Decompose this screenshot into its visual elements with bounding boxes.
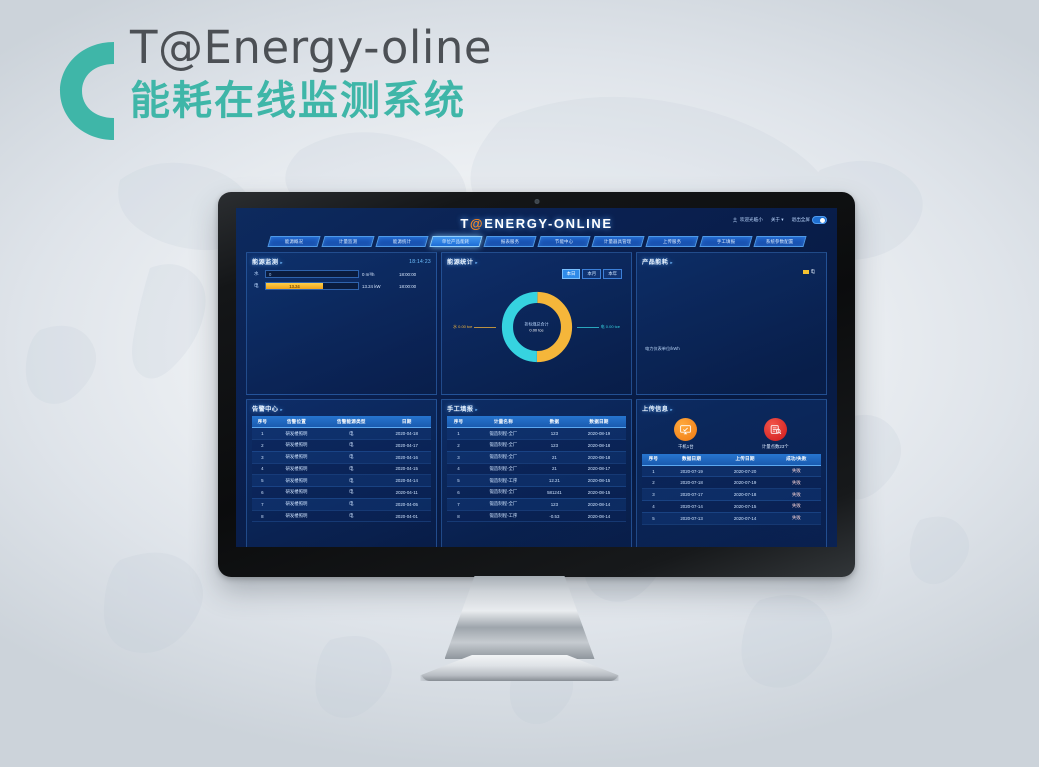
cell-0: 3: [252, 451, 273, 463]
chevron-right-icon[interactable]: ▸: [475, 260, 478, 265]
donut-center-label: 折标煤总合计 0.00 tce: [525, 322, 549, 333]
monitor-upload-icon: [674, 418, 697, 441]
table-row[interactable]: 1研发楼照明电2020-04-18: [252, 428, 431, 440]
cell-3: 2020-08-19: [572, 428, 626, 440]
table-row[interactable]: 6研发楼照明电2020-04-11: [252, 487, 431, 499]
energy-donut-chart: 折标煤总合计 0.00 tce 水 0.00 tce 电 0.00 tce: [447, 279, 626, 375]
alarm-center-header: 告警中心▸: [252, 404, 431, 413]
column-header-0: 序号: [252, 416, 273, 428]
cell-2: 123: [537, 439, 572, 451]
tab-today[interactable]: 本日: [562, 269, 581, 279]
cell-1: 研发楼照明: [273, 439, 320, 451]
cell-3: 2020-04-11: [382, 487, 431, 499]
energy-stat-title-text: 能源统计: [447, 259, 473, 266]
column-header-1: 告警位置: [273, 416, 320, 428]
column-header-2: 数据: [537, 416, 572, 428]
nav-item-8[interactable]: 手工填报: [699, 236, 752, 247]
webcam-icon: [534, 199, 539, 204]
dashboard-title-part2: ENERGY-ONLINE: [484, 216, 612, 231]
panel-energy-statistics: 能源统计▸ 本日 本月 本年: [441, 252, 632, 395]
cell-0: 5: [642, 512, 665, 524]
product-energy-header: 产品能耗▸: [642, 257, 821, 266]
donut-label-water: 水 0.00 tce: [453, 324, 496, 330]
alarm-center-title: 告警中心▸: [252, 404, 283, 413]
cell-2: 581241: [537, 487, 572, 499]
cell-1: 锻造制程-全厂: [470, 439, 537, 451]
cell-0: 2: [642, 477, 665, 489]
cell-1: 研发楼照明: [273, 510, 320, 522]
cell-3: 失败: [772, 477, 821, 489]
monitor: T@ENERGY-ONLINE 欢迎光临小 关于 ▾ 退出全屏: [218, 192, 855, 577]
table-row[interactable]: 7锻造制程-全厂1232020-08-14: [447, 498, 626, 510]
alarm-center-title-text: 告警中心: [252, 406, 278, 413]
table-row[interactable]: 22020-07-182020-07-19失败: [642, 477, 821, 489]
user-icon: [732, 217, 738, 223]
tab-year[interactable]: 本年: [603, 269, 622, 279]
cell-2: 电: [320, 451, 382, 463]
cell-2: 2020-07-19: [718, 477, 771, 489]
upload-info-table: 序号数据日期上传日期成功/失败 12020-07-192020-07-20失败2…: [642, 454, 821, 525]
panel-manual-entry: 手工填报▸ 序号计量名称数据数据日期 1锻造制程-全厂1232020-08-19…: [441, 399, 632, 547]
cell-0: 6: [447, 487, 470, 499]
table-body: 1锻造制程-全厂1232020-08-192锻造制程-全厂1232020-08-…: [447, 428, 626, 522]
manual-entry-title-text: 手工填报: [447, 406, 473, 413]
nav-label-9: 系统参数配置: [766, 239, 794, 245]
cell-3: 2020-08-15: [572, 487, 626, 499]
cell-2: 2020-07-14: [718, 512, 771, 524]
cell-1: 研发楼照明: [273, 487, 320, 499]
table-row[interactable]: 32020-07-172020-07-18失败: [642, 489, 821, 501]
cell-3: 2020-08-18: [572, 451, 626, 463]
donut-label-water-text: 水 0.00 tce: [453, 324, 472, 330]
column-header-3: 数据日期: [572, 416, 626, 428]
donut-center-line2: 0.00 tce: [525, 327, 549, 332]
column-header-1: 数据日期: [665, 454, 718, 466]
cell-3: 2020-08-14: [572, 498, 626, 510]
upload-info-title-text: 上传信息: [642, 406, 668, 413]
nav-label-4: 报表服务: [500, 239, 518, 245]
cell-3: 2020-08-18: [572, 439, 626, 451]
monitor-screen: T@ENERGY-ONLINE 欢迎光临小 关于 ▾ 退出全屏: [236, 208, 837, 547]
table-row[interactable]: 4锻造制程-全厂212020-08-17: [447, 463, 626, 475]
cell-2: 电: [320, 498, 382, 510]
product-energy-legend: 电: [642, 269, 815, 275]
document-search-icon: [764, 418, 787, 441]
nav-item-2[interactable]: 能源统计: [375, 236, 428, 247]
upload-stats: 干机1台: [642, 418, 821, 450]
upload-stat-devices[interactable]: 干机1台: [674, 418, 697, 450]
cell-2: 123: [537, 498, 572, 510]
energy-monitor-header: 能源监测▸ 18:14:23: [252, 257, 431, 266]
cell-0: 6: [252, 487, 273, 499]
cell-2: 电: [320, 487, 382, 499]
water-bar-value: 0: [269, 272, 271, 277]
water-timestamp: 18:00:00: [399, 272, 429, 277]
user-menu[interactable]: 欢迎光临小: [732, 217, 763, 223]
cell-3: 2020-08-14: [572, 510, 626, 522]
nav-label-3: 单位产品能耗: [442, 239, 470, 245]
water-bar-track: 0: [265, 270, 359, 278]
cell-0: 8: [252, 510, 273, 522]
product-energy-title-text: 产品能耗: [642, 259, 668, 266]
cell-1: 2020-07-13: [665, 512, 718, 524]
donut-label-electric-text: 电 0.00 tce: [601, 324, 620, 330]
nav-label-2: 能源统计: [392, 239, 410, 245]
fullscreen-control[interactable]: 退出全屏: [792, 216, 827, 224]
nav-label-1: 计量监测: [338, 239, 356, 245]
energy-stat-tabs: 本日 本月 本年: [447, 269, 622, 279]
nav-label-7: 上传服务: [662, 239, 680, 245]
nav-label-6: 计量器具管理: [604, 239, 632, 245]
chevron-right-icon[interactable]: ▸: [280, 407, 283, 412]
donut-label-electric: 电 0.00 tce: [577, 324, 620, 330]
table-body: 1研发楼照明电2020-04-182研发楼照明电2020-04-173研发楼照明…: [252, 428, 431, 522]
energy-monitor-title: 能源监测▸: [252, 257, 283, 266]
panel-upload-info: 上传信息▸: [636, 399, 827, 547]
column-header-2: 告警能源类型: [320, 416, 382, 428]
table-row[interactable]: 2研发楼照明电2020-04-17: [252, 439, 431, 451]
electric-label: 电: [254, 283, 262, 289]
table-row[interactable]: 5研发楼照明电2020-04-14: [252, 475, 431, 487]
column-header-2: 上传日期: [718, 454, 771, 466]
upload-stat-devices-caption: 干机1台: [674, 444, 697, 450]
cell-2: 2020-07-15: [718, 501, 771, 513]
cell-2: 电: [320, 475, 382, 487]
cell-2: 电: [320, 510, 382, 522]
panel-product-energy: 产品能耗▸ 电 电力仪表单位/kWh: [636, 252, 827, 395]
energy-monitor-title-text: 能源监测: [252, 259, 278, 266]
cell-0: 7: [252, 498, 273, 510]
table-header-row: 序号数据日期上传日期成功/失败: [642, 454, 821, 466]
cell-3: 2020-04-15: [382, 463, 431, 475]
brand-header: T@Energy-oline 能耗在线监测系统: [52, 22, 492, 150]
at-symbol-icon: @: [470, 216, 484, 231]
cell-0: 8: [447, 510, 470, 522]
electric-reading: 13.24 kW: [362, 284, 396, 289]
cell-1: 锻造制程-全厂: [470, 428, 537, 440]
cell-1: 锻造制程-全厂: [470, 498, 537, 510]
monitor-bezel: T@ENERGY-ONLINE 欢迎光临小 关于 ▾ 退出全屏: [218, 192, 855, 577]
cell-2: 21: [537, 463, 572, 475]
cell-2: -0.53: [537, 510, 572, 522]
topbar-actions: 欢迎光临小 关于 ▾ 退出全屏: [732, 216, 827, 224]
cell-1: 锻造制程-全厂: [470, 463, 537, 475]
panel-alarm-center: 告警中心▸ 序号告警位置告警能源类型日期 1研发楼照明电2020-04-182研…: [246, 399, 437, 547]
nav-item-6[interactable]: 计量器具管理: [591, 236, 644, 247]
electric-bar-track: 13.24: [265, 282, 359, 290]
cell-1: 2020-07-17: [665, 489, 718, 501]
cell-3: 2020-04-05: [382, 498, 431, 510]
chevron-right-icon[interactable]: ▸: [670, 407, 673, 412]
cell-0: 5: [447, 475, 470, 487]
nav-item-3[interactable]: 单位产品能耗: [429, 236, 482, 247]
cell-3: 失败: [772, 489, 821, 501]
cell-1: 锻造制程-工序: [470, 475, 537, 487]
cell-1: 研发楼照明: [273, 451, 320, 463]
table-body: 12020-07-192020-07-20失败22020-07-182020-0…: [642, 465, 821, 524]
cell-3: 2020-08-15: [572, 475, 626, 487]
cell-0: 4: [447, 463, 470, 475]
dashboard-grid: 能源监测▸ 18:14:23 水 0 0 m³/h 18:00:00: [242, 247, 831, 547]
cell-3: 失败: [772, 465, 821, 477]
table-row[interactable]: 42020-07-142020-07-15失败: [642, 501, 821, 513]
nav-item-1[interactable]: 计量监测: [321, 236, 374, 247]
cell-2: 12.21: [537, 475, 572, 487]
cell-1: 2020-07-18: [665, 477, 718, 489]
cell-0: 2: [447, 439, 470, 451]
column-header-0: 序号: [642, 454, 665, 466]
fullscreen-label: 退出全屏: [792, 217, 810, 223]
nav-item-4[interactable]: 报表服务: [483, 236, 536, 247]
panel-energy-monitor: 能源监测▸ 18:14:23 水 0 0 m³/h 18:00:00: [246, 252, 437, 395]
table-row[interactable]: 3锻造制程-全厂212020-08-18: [447, 451, 626, 463]
upload-stat-points-caption: 计量点数23个: [762, 444, 789, 450]
cell-3: 2020-08-17: [572, 463, 626, 475]
nav-label-8: 手工填报: [716, 239, 734, 245]
column-header-1: 计量名称: [470, 416, 537, 428]
column-header-3: 成功/失败: [772, 454, 821, 466]
cell-0: 3: [642, 489, 665, 501]
nav-item-7[interactable]: 上传服务: [645, 236, 698, 247]
chevron-right-icon[interactable]: ▸: [280, 260, 283, 265]
monitor-stand-neck: [445, 576, 595, 659]
energy-bar-row-water: 水 0 0 m³/h 18:00:00: [254, 270, 429, 278]
alarm-center-table: 序号告警位置告警能源类型日期 1研发楼照明电2020-04-182研发楼照明电2…: [252, 416, 431, 522]
tab-month[interactable]: 本月: [582, 269, 601, 279]
cell-0: 1: [252, 428, 273, 440]
energy-monitor-time: 18:14:23: [409, 259, 431, 265]
legend-swatch-electric: [803, 270, 809, 274]
table-header-row: 序号计量名称数据数据日期: [447, 416, 626, 428]
electric-bar-fill: 13.24: [266, 283, 323, 289]
cell-0: 4: [642, 501, 665, 513]
main-nav: 能源概况 计量监测 能源统计 单位产品能耗 报表服务 节能中心 计量器具管理 上…: [242, 236, 831, 247]
water-label: 水: [254, 271, 262, 277]
cell-3: 2020-04-01: [382, 510, 431, 522]
table-row[interactable]: 3研发楼照明电2020-04-16: [252, 451, 431, 463]
cell-1: 研发楼照明: [273, 428, 320, 440]
leader-line-left: [474, 327, 496, 328]
table-row[interactable]: 6锻造制程-全厂5812412020-08-15: [447, 487, 626, 499]
cell-1: 锻造制程-全厂: [470, 487, 537, 499]
help-label: 关于 ▾: [771, 217, 784, 223]
water-reading: 0 m³/h: [362, 272, 396, 277]
table-row[interactable]: 4研发楼照明电2020-04-15: [252, 463, 431, 475]
energy-stat-header: 能源统计▸: [447, 257, 626, 266]
cell-2: 电: [320, 463, 382, 475]
cell-3: 2020-04-16: [382, 451, 431, 463]
nav-item-5[interactable]: 节能中心: [537, 236, 590, 247]
cell-0: 2: [252, 439, 273, 451]
table-row[interactable]: 8研发楼照明电2020-04-01: [252, 510, 431, 522]
cell-3: 2020-04-18: [382, 428, 431, 440]
cell-0: 5: [252, 475, 273, 487]
table-header-row: 序号告警位置告警能源类型日期: [252, 416, 431, 428]
upload-info-header: 上传信息▸: [642, 404, 821, 413]
electric-timestamp: 18:00:00: [399, 284, 429, 289]
nav-item-0[interactable]: 能源概况: [267, 236, 320, 247]
cell-0: 7: [447, 498, 470, 510]
c-logo-icon: [52, 32, 124, 150]
cell-3: 失败: [772, 512, 821, 524]
cell-0: 3: [447, 451, 470, 463]
table-row[interactable]: 7研发楼照明电2020-04-05: [252, 498, 431, 510]
cell-2: 2020-07-18: [718, 489, 771, 501]
column-header-3: 日期: [382, 416, 431, 428]
cell-0: 1: [447, 428, 470, 440]
cell-0: 1: [642, 465, 665, 477]
cell-2: 2020-07-20: [718, 465, 771, 477]
cell-1: 2020-07-19: [665, 465, 718, 477]
electric-bar-value: 13.24: [289, 284, 299, 289]
column-header-0: 序号: [447, 416, 470, 428]
cell-3: 失败: [772, 501, 821, 513]
energy-stat-title: 能源统计▸: [447, 257, 478, 266]
upload-info-title: 上传信息▸: [642, 404, 673, 413]
cell-1: 锻造制程-全厂: [470, 451, 537, 463]
table-row[interactable]: 1锻造制程-全厂1232020-08-19: [447, 428, 626, 440]
chevron-right-icon[interactable]: ▸: [670, 260, 673, 265]
cell-2: 电: [320, 428, 382, 440]
manual-entry-title: 手工填报▸: [447, 404, 478, 413]
product-energy-title: 产品能耗▸: [642, 257, 673, 266]
nav-item-9[interactable]: 系统参数配置: [753, 236, 806, 247]
cell-3: 2020-04-17: [382, 439, 431, 451]
chevron-right-icon[interactable]: ▸: [475, 407, 478, 412]
legend-label-electric: 电: [811, 269, 815, 275]
leader-line-right: [577, 327, 599, 328]
nav-label-0: 能源概况: [284, 239, 302, 245]
cell-0: 4: [252, 463, 273, 475]
cell-1: 2020-07-14: [665, 501, 718, 513]
cell-1: 研发楼照明: [273, 475, 320, 487]
energy-bar-row-electric: 电 13.24 13.24 kW 18:00:00: [254, 282, 429, 290]
table-row[interactable]: 2锻造制程-全厂1232020-08-18: [447, 439, 626, 451]
cell-2: 21: [537, 451, 572, 463]
manual-entry-header: 手工填报▸: [447, 404, 626, 413]
table-row[interactable]: 8锻造制程-工序-0.532020-08-14: [447, 510, 626, 522]
help-menu[interactable]: 关于 ▾: [771, 217, 784, 223]
cell-1: 锻造制程-工序: [470, 510, 537, 522]
table-row[interactable]: 52020-07-132020-07-14失败: [642, 512, 821, 524]
page-subtitle: 能耗在线监测系统: [130, 76, 492, 126]
product-energy-axis-note: 电力仪表单位/kWh: [645, 346, 680, 352]
table-row[interactable]: 5锻造制程-工序12.212020-08-15: [447, 475, 626, 487]
cell-2: 电: [320, 439, 382, 451]
cell-1: 研发楼照明: [273, 463, 320, 475]
upload-stat-points[interactable]: 计量点数23个: [762, 418, 789, 450]
cell-2: 123: [537, 428, 572, 440]
nav-label-5: 节能中心: [554, 239, 572, 245]
table-row[interactable]: 12020-07-192020-07-20失败: [642, 465, 821, 477]
fullscreen-toggle[interactable]: [812, 216, 827, 224]
user-label: 欢迎光临小: [740, 217, 763, 223]
manual-entry-table: 序号计量名称数据数据日期 1锻造制程-全厂1232020-08-192锻造制程-…: [447, 416, 626, 522]
dashboard-title-part1: T: [460, 216, 470, 231]
page-title: T@Energy-oline: [130, 22, 492, 74]
dashboard: T@ENERGY-ONLINE 欢迎光临小 关于 ▾ 退出全屏: [236, 208, 837, 547]
cell-1: 研发楼照明: [273, 498, 320, 510]
cell-3: 2020-04-14: [382, 475, 431, 487]
